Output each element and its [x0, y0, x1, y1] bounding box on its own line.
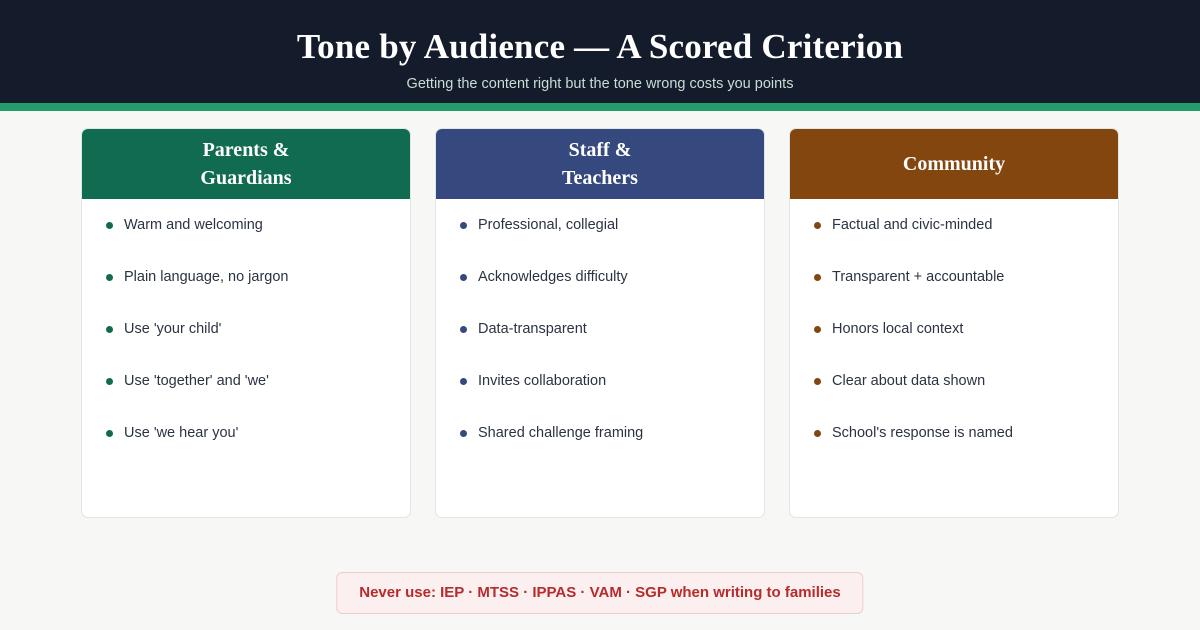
list-item: Factual and civic-minded	[790, 215, 1118, 267]
list-item-label: School's response is named	[832, 423, 1013, 443]
list-item-label: Professional, collegial	[478, 215, 618, 235]
list-item-label: Invites collaboration	[478, 371, 606, 391]
list-item-label: Clear about data shown	[832, 371, 985, 391]
list-item: Clear about data shown	[790, 371, 1118, 423]
bullet-dot-icon	[106, 222, 113, 229]
card-body-community: Factual and civic-minded Transparent + a…	[790, 199, 1118, 517]
list-item-label: Use 'we hear you'	[124, 423, 238, 443]
page-title: Tone by Audience — A Scored Criterion	[297, 26, 903, 68]
list-item: Honors local context	[790, 319, 1118, 371]
card-title: Parents & Guardians	[200, 136, 291, 192]
never-use-callout-text: Never use: IEP · MTSS · IPPAS · VAM · SG…	[359, 583, 840, 603]
page-subtitle: Getting the content right but the tone w…	[407, 75, 794, 93]
list-item: Warm and welcoming	[82, 215, 410, 267]
card-header-staff-teachers: Staff & Teachers	[436, 129, 764, 199]
page-header: Tone by Audience — A Scored Criterion Ge…	[0, 0, 1200, 103]
bullet-dot-icon	[814, 378, 821, 385]
list-item-label: Plain language, no jargon	[124, 267, 288, 287]
bullet-dot-icon	[814, 430, 821, 437]
list-item-label: Factual and civic-minded	[832, 215, 992, 235]
audience-card-grid: Parents & Guardians Warm and welcoming P…	[81, 128, 1119, 518]
bullet-dot-icon	[106, 326, 113, 333]
bullet-dot-icon	[814, 274, 821, 281]
card-title: Community	[903, 150, 1005, 178]
audience-card-staff-teachers: Staff & Teachers Professional, collegial…	[435, 128, 765, 518]
bullet-dot-icon	[814, 222, 821, 229]
list-item-label: Transparent + accountable	[832, 267, 1004, 287]
bullet-dot-icon	[460, 222, 467, 229]
card-body-staff-teachers: Professional, collegial Acknowledges dif…	[436, 199, 764, 517]
list-item: Invites collaboration	[436, 371, 764, 423]
bullet-dot-icon	[106, 274, 113, 281]
header-accent-bar	[0, 103, 1200, 111]
list-item: Shared challenge framing	[436, 423, 764, 475]
list-item: Use 'your child'	[82, 319, 410, 371]
list-item: Acknowledges difficulty	[436, 267, 764, 319]
audience-card-parents-guardians: Parents & Guardians Warm and welcoming P…	[81, 128, 411, 518]
list-item: School's response is named	[790, 423, 1118, 475]
list-item: Professional, collegial	[436, 215, 764, 267]
audience-card-community: Community Factual and civic-minded Trans…	[789, 128, 1119, 518]
list-item-label: Honors local context	[832, 319, 963, 339]
bullet-dot-icon	[106, 378, 113, 385]
list-item-label: Acknowledges difficulty	[478, 267, 628, 287]
list-item-label: Use 'your child'	[124, 319, 221, 339]
list-item: Use 'together' and 'we'	[82, 371, 410, 423]
list-item: Plain language, no jargon	[82, 267, 410, 319]
list-item-label: Data-transparent	[478, 319, 587, 339]
bullet-dot-icon	[460, 430, 467, 437]
card-body-parents-guardians: Warm and welcoming Plain language, no ja…	[82, 199, 410, 517]
infographic-page: Tone by Audience — A Scored Criterion Ge…	[0, 0, 1200, 630]
list-item-label: Use 'together' and 'we'	[124, 371, 269, 391]
list-item-label: Shared challenge framing	[478, 423, 643, 443]
card-header-community: Community	[790, 129, 1118, 199]
bullet-dot-icon	[814, 326, 821, 333]
list-item-label: Warm and welcoming	[124, 215, 263, 235]
bullet-dot-icon	[106, 430, 113, 437]
list-item: Use 'we hear you'	[82, 423, 410, 475]
list-item: Transparent + accountable	[790, 267, 1118, 319]
card-header-parents-guardians: Parents & Guardians	[82, 129, 410, 199]
bullet-dot-icon	[460, 378, 467, 385]
bullet-dot-icon	[460, 274, 467, 281]
card-title: Staff & Teachers	[562, 136, 638, 192]
never-use-callout: Never use: IEP · MTSS · IPPAS · VAM · SG…	[336, 572, 863, 614]
bullet-dot-icon	[460, 326, 467, 333]
list-item: Data-transparent	[436, 319, 764, 371]
